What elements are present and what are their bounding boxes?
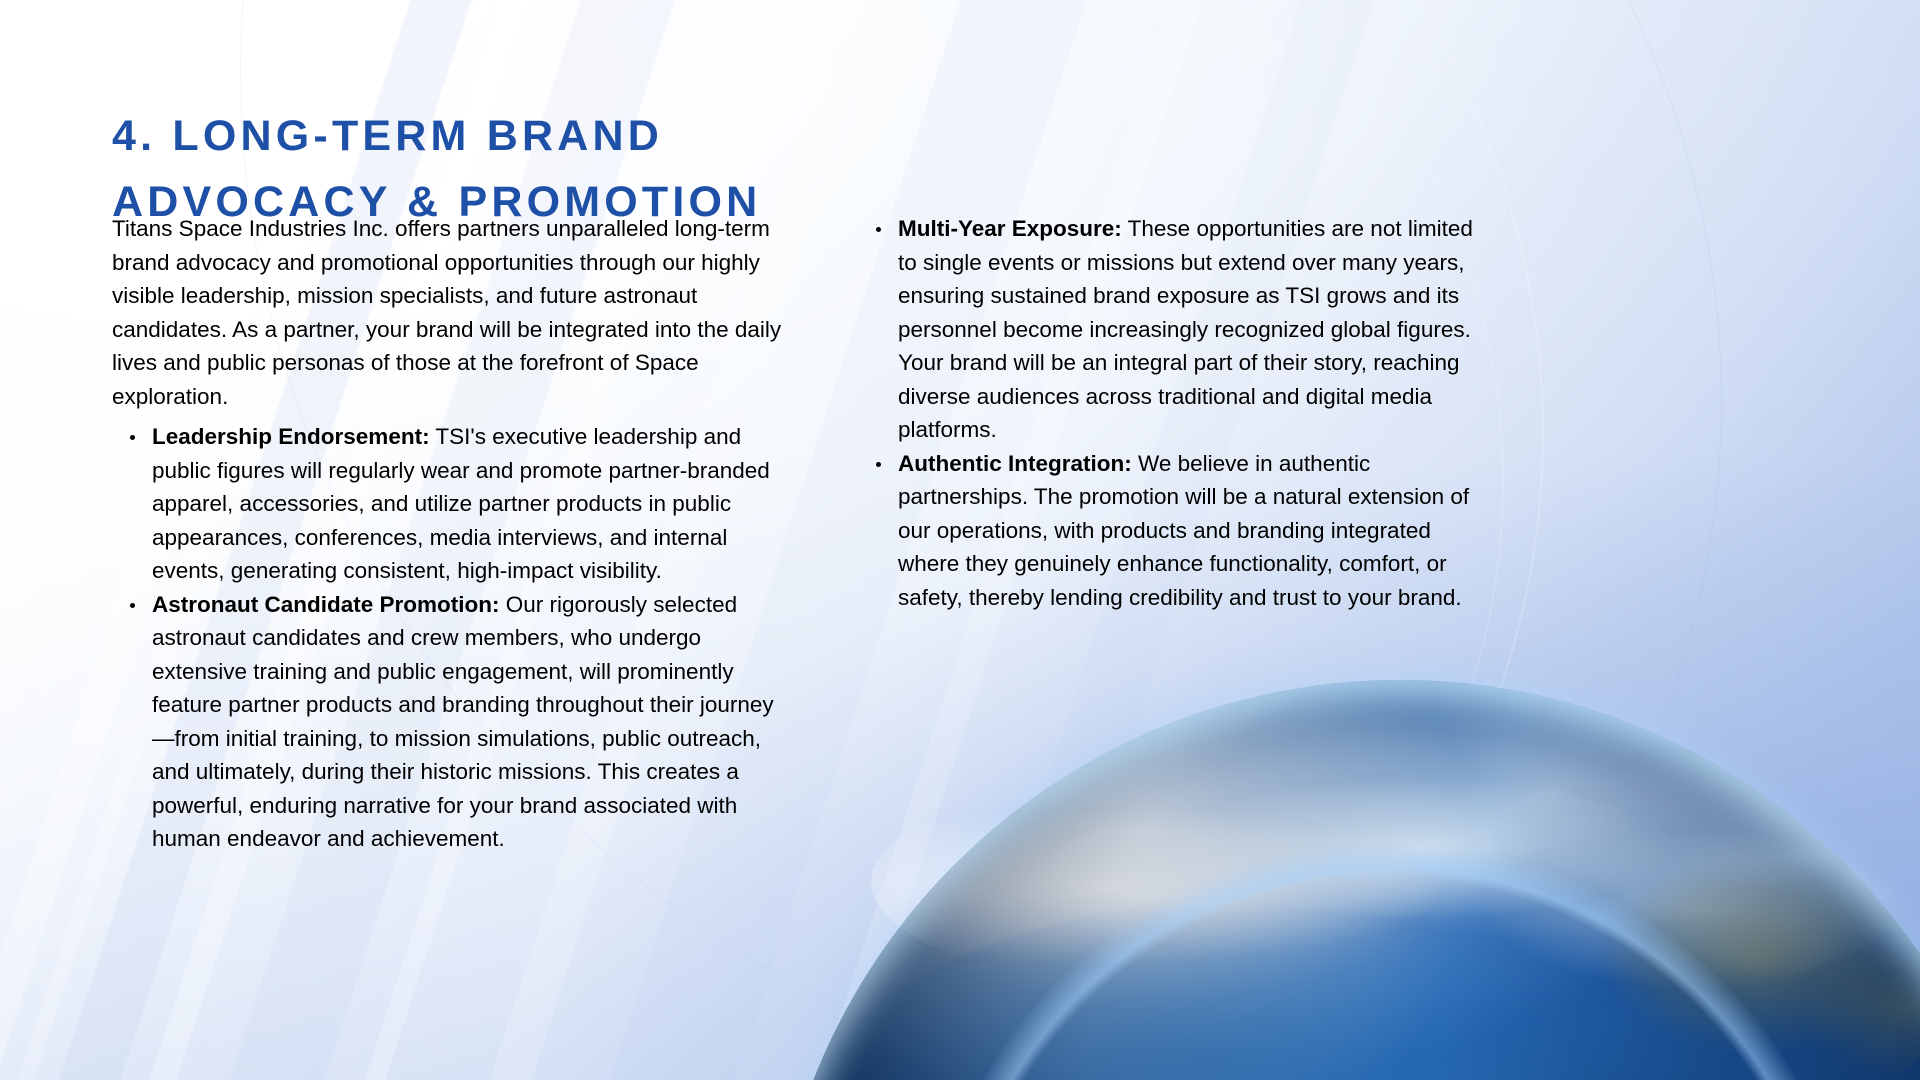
slide-canvas: 4. LONG-TERM BRAND ADVOCACY & PROMOTION … [0,0,1920,1080]
list-item: Multi-Year Exposure: These opportunities… [898,212,1488,447]
bullet-body-text: Our rigorously selected astronaut candid… [152,592,774,852]
left-column: Titans Space Industries Inc. offers part… [112,212,790,856]
right-bullet-list: Multi-Year Exposure: These opportunities… [858,212,1488,614]
bullet-lead-label: Authentic Integration: [898,451,1132,476]
list-item: Authentic Integration: We believe in aut… [898,447,1488,615]
bullet-lead-label: Multi-Year Exposure: [898,216,1122,241]
list-item: Astronaut Candidate Promotion: Our rigor… [152,588,790,856]
bullet-lead-label: Astronaut Candidate Promotion: [152,592,500,617]
list-item: Leadership Endorsement: TSI's executive … [152,420,790,588]
slide-content: 4. LONG-TERM BRAND ADVOCACY & PROMOTION … [0,0,1920,1080]
bullet-body-text: These opportunities are not limited to s… [898,216,1473,442]
bullet-lead-label: Leadership Endorsement: [152,424,430,449]
intro-paragraph: Titans Space Industries Inc. offers part… [112,212,790,413]
page-title-line-1: 4. LONG-TERM BRAND [112,103,932,169]
right-column: Multi-Year Exposure: These opportunities… [858,212,1488,614]
left-bullet-list: Leadership Endorsement: TSI's executive … [112,420,790,856]
